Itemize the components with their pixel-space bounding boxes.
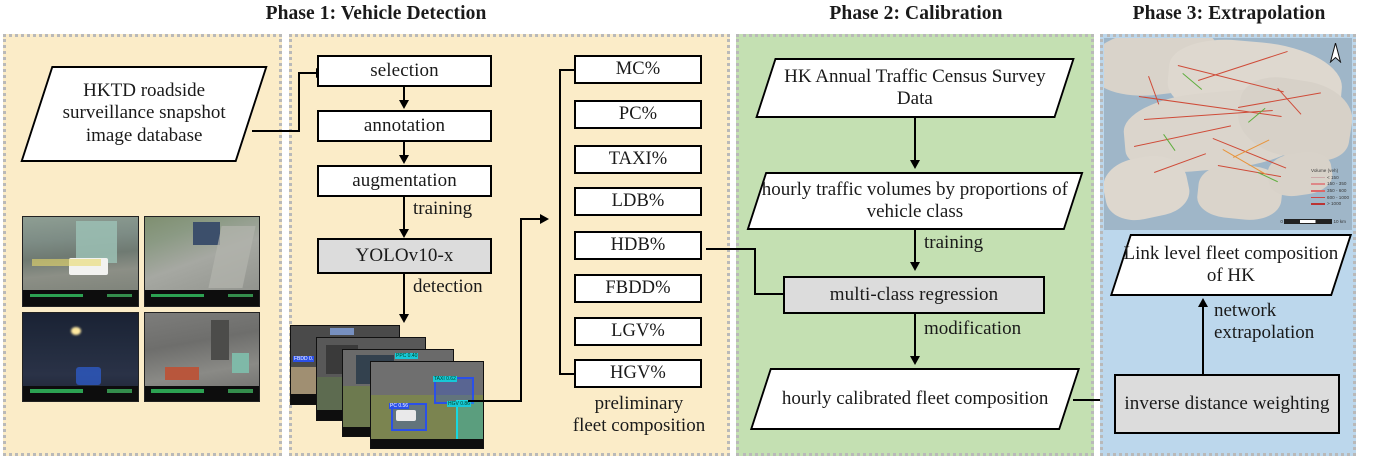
edge-label-training-p2: training xyxy=(924,232,983,254)
regression-to-calibrated-line xyxy=(914,314,916,358)
census-to-hourly-line xyxy=(914,118,916,162)
calibrated-composition-node[interactable]: hourly calibrated fleet composition xyxy=(750,368,1080,430)
hong-kong-volume-map[interactable]: Volume (veh) < 150 150 - 350 350 - 600 6… xyxy=(1104,38,1352,230)
census-data-label: HK Annual Traffic Census Survey Data xyxy=(767,66,1063,111)
pipeline-step-augmentation[interactable]: augmentation xyxy=(317,165,492,197)
link-level-output-label: Link level fleet composition of HK xyxy=(1122,243,1340,288)
census-data-node[interactable]: HK Annual Traffic Census Survey Data xyxy=(755,58,1074,118)
map-legend-item-3: 600 - 1000 xyxy=(1327,195,1349,200)
edge-label-network-extrapolation: network extrapolation xyxy=(1214,300,1314,343)
class-box-mc[interactable]: MC% xyxy=(574,55,702,84)
map-legend-item-0: < 150 xyxy=(1327,175,1339,180)
cctv-thumb-2[interactable] xyxy=(144,216,261,307)
detection-image-stack: FBDD 0. PPC 0.40 PC 0.56 TAXI 0.62 HGV 0… xyxy=(290,325,490,450)
cctv-thumbnail-grid xyxy=(22,216,260,402)
class-box-lgv-label: LGV% xyxy=(611,321,665,342)
pipeline-step-annotation-label: annotation xyxy=(364,115,445,136)
class-box-mc-label: MC% xyxy=(616,59,661,80)
pipeline-step-augmentation-label: augmentation xyxy=(352,170,457,191)
inverse-distance-weighting-label: inverse distance weighting xyxy=(1124,393,1329,414)
edge-label-detection: detection xyxy=(413,276,483,298)
map-legend-item-4: > 1000 xyxy=(1327,201,1341,206)
multiclass-regression-label: multi-class regression xyxy=(830,284,998,305)
stack-to-classes-h xyxy=(468,400,522,402)
hktd-database-label: HKTD roadside surveillance snapshot imag… xyxy=(38,80,250,147)
phase-3-title: Phase 3: Extrapolation xyxy=(1104,3,1354,25)
hourly-volumes-label: hourly traffic volumes by proportions of… xyxy=(758,179,1072,224)
yolo-to-detection-arrow xyxy=(399,314,409,323)
hourly-to-regression-line xyxy=(914,230,916,264)
detection-tag-taxi: TAXI 0.62 xyxy=(433,376,457,382)
phase-2-title: Phase 2: Calibration xyxy=(740,3,1092,25)
map-legend-item-1: 150 - 350 xyxy=(1327,181,1346,186)
detection-sample-4[interactable]: PC 0.56 TAXI 0.62 HGV 0.86 xyxy=(370,361,484,449)
augmentation-to-yolo-arrow xyxy=(399,229,409,238)
detection-tag-pc: PC 0.56 xyxy=(389,403,409,409)
cctv-thumb-1[interactable] xyxy=(22,216,139,307)
class-box-taxi[interactable]: TAXI% xyxy=(574,145,702,174)
p1-to-regression-h1 xyxy=(706,248,756,250)
idw-to-output-arrow xyxy=(1198,298,1208,307)
class-box-hgv[interactable]: HGV% xyxy=(574,359,702,388)
class-box-fbdd[interactable]: FBDD% xyxy=(574,274,702,303)
class-box-taxi-label: TAXI% xyxy=(609,149,668,170)
preliminary-fleet-caption: preliminary fleet composition xyxy=(566,393,712,437)
pipeline-step-yolo[interactable]: YOLOv10-x xyxy=(317,238,492,274)
class-box-hdb-label: HDB% xyxy=(611,235,666,256)
map-scale-0: 0 xyxy=(1280,219,1283,224)
class-box-lgv[interactable]: LGV% xyxy=(574,317,702,346)
map-scale-2: 10 km xyxy=(1333,219,1346,224)
link-level-output-node[interactable]: Link level fleet composition of HK xyxy=(1110,234,1352,296)
pipeline-step-yolo-label: YOLOv10-x xyxy=(356,245,454,266)
preliminary-caption-line1: preliminary xyxy=(595,393,684,414)
db-to-selection-v xyxy=(298,72,300,132)
augmentation-to-yolo-line xyxy=(403,197,405,231)
map-legend-item-2: 350 - 600 xyxy=(1327,188,1346,193)
network-extrapolation-line2: extrapolation xyxy=(1214,322,1314,343)
cctv-thumb-4[interactable] xyxy=(144,312,261,403)
map-scale-bar: 0 10 km xyxy=(1280,219,1346,224)
multiclass-regression-node[interactable]: multi-class regression xyxy=(783,276,1045,314)
pipeline-step-annotation[interactable]: annotation xyxy=(317,110,492,142)
class-box-ldb-label: LDB% xyxy=(612,191,665,212)
calibrated-composition-label: hourly calibrated fleet composition xyxy=(782,388,1048,410)
cctv-thumb-3[interactable] xyxy=(22,312,139,403)
pipeline-step-selection[interactable]: selection xyxy=(317,55,492,87)
stack-to-classes-h2 xyxy=(520,218,542,220)
db-to-selection-h1 xyxy=(252,130,300,132)
detection-tag-1: FBDD 0. xyxy=(293,356,314,362)
edge-label-training-p1: training xyxy=(413,198,472,220)
class-box-fbdd-label: FBDD% xyxy=(605,278,670,299)
yolo-to-detection-line xyxy=(403,274,405,316)
map-legend-title: Volume (veh) xyxy=(1311,168,1349,175)
stack-to-classes-arrow xyxy=(540,214,549,224)
preliminary-caption-line2: fleet composition xyxy=(573,415,705,436)
db-to-selection-h2 xyxy=(298,72,318,74)
p1-to-regression-v xyxy=(754,248,756,295)
pipeline-step-selection-label: selection xyxy=(370,60,438,81)
class-box-hdb[interactable]: HDB% xyxy=(574,231,702,260)
class-box-hgv-label: HGV% xyxy=(610,363,666,384)
class-box-pc[interactable]: PC% xyxy=(574,100,702,129)
phase-1-title: Phase 1: Vehicle Detection xyxy=(186,3,566,25)
stack-to-classes-v xyxy=(520,218,522,402)
compass-north-icon xyxy=(1329,43,1342,68)
edge-label-modification: modification xyxy=(924,318,1021,340)
hourly-to-regression-arrow xyxy=(910,262,920,271)
selection-to-annotation-arrow xyxy=(399,100,409,109)
hourly-volumes-node[interactable]: hourly traffic volumes by proportions of… xyxy=(747,172,1084,230)
class-bracket-spine xyxy=(559,69,561,375)
hktd-database-node[interactable]: HKTD roadside surveillance snapshot imag… xyxy=(20,66,267,162)
regression-to-calibrated-arrow xyxy=(910,356,920,365)
idw-to-output-line xyxy=(1202,306,1204,374)
annotation-to-augmentation-arrow xyxy=(399,155,409,164)
detection-tag-3: PPC 0.40 xyxy=(395,353,418,359)
class-box-ldb[interactable]: LDB% xyxy=(574,187,702,216)
map-legend: Volume (veh) < 150 150 - 350 350 - 600 6… xyxy=(1311,168,1349,208)
network-extrapolation-line1: network xyxy=(1214,300,1276,321)
class-box-pc-label: PC% xyxy=(619,104,657,125)
inverse-distance-weighting-node[interactable]: inverse distance weighting xyxy=(1114,374,1340,434)
census-to-hourly-arrow xyxy=(910,160,920,169)
